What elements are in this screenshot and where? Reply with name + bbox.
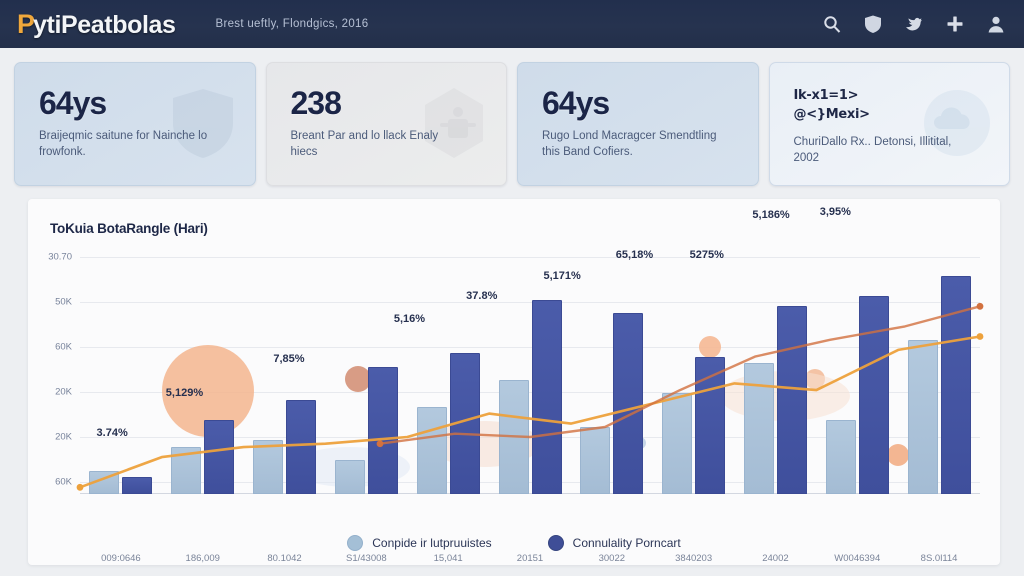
y-axis-tick-label: 60K — [28, 342, 72, 353]
kpi-value: 64ys — [39, 87, 237, 119]
chart-data-label: 5,129% — [166, 387, 203, 399]
search-icon[interactable] — [822, 14, 842, 34]
x-axis-tick-label: W0046394 — [834, 553, 880, 564]
kpi-card-1[interactable]: 64ys Braijeqmic saitune for Nainche lo f… — [14, 62, 256, 186]
y-axis-tick-label: 30.70 — [28, 252, 72, 263]
x-axis-tick-label: 20151 — [517, 553, 543, 564]
x-axis-tick-label: 24002 — [762, 553, 788, 564]
kpi-code-line-1: Ik-x1=1> — [794, 87, 992, 106]
chart-data-label: 3.74% — [97, 427, 128, 439]
legend-label: Connulality Porncart — [573, 536, 681, 550]
chart-legend: Conpide ir lutpruuistes Connulality Porn… — [28, 535, 1000, 551]
kpi-description: Braijeqmic saitune for Nainche lo frowfo… — [39, 128, 214, 161]
kpi-value: 238 — [291, 87, 489, 119]
chart-line — [80, 337, 980, 488]
chart-plot-area[interactable]: 30.7050K60K20K20K60K009:0646186,00980.10… — [80, 251, 980, 494]
chart-data-label: 5,16% — [394, 313, 425, 325]
chart-title: ToKuia BotaRangle (Hari) — [50, 221, 208, 236]
chart-line-overlay — [80, 251, 980, 494]
x-axis-tick-label: 8S.0l114 — [921, 553, 958, 564]
kpi-card-3[interactable]: 64ys Rugo Lond Macragcer Smendtling this… — [517, 62, 759, 186]
chart-data-label: 65,18% — [616, 249, 653, 261]
chart-data-label: 5,186% — [752, 209, 789, 221]
legend-swatch-icon — [347, 535, 363, 551]
chart-line-marker[interactable] — [977, 333, 984, 340]
brand-text: ytiPeatbolas — [33, 11, 175, 40]
chart-data-label: 7,85% — [273, 353, 304, 365]
kpi-description: Rugo Lond Macragcer Smendtling this Band… — [542, 128, 717, 161]
x-axis-tick-label: 3840203 — [675, 553, 712, 564]
chart-panel: ToKuia BotaRangle (Hari) 30.7050K60K20K2… — [28, 199, 1000, 565]
chart-line — [380, 306, 980, 443]
legend-swatch-icon — [548, 535, 564, 551]
y-axis-tick-label: 20K — [28, 432, 72, 443]
user-icon[interactable] — [986, 14, 1006, 34]
legend-label: Conpide ir lutpruuistes — [372, 536, 491, 550]
y-axis-tick-label: 60K — [28, 477, 72, 488]
chart-line-marker[interactable] — [77, 484, 84, 491]
x-axis-tick-label: 15,041 — [434, 553, 463, 564]
kpi-card-2[interactable]: 238 Breant Par and lo llack Enaly hiecs — [266, 62, 508, 186]
plus-icon[interactable] — [945, 14, 965, 34]
x-axis-tick-label: S1/43008 — [346, 553, 387, 564]
kpi-card-row: 64ys Braijeqmic saitune for Nainche lo f… — [14, 62, 1010, 186]
x-axis-tick-label: 30022 — [599, 553, 625, 564]
chart-line-marker[interactable] — [977, 303, 984, 310]
chart-line-marker[interactable] — [377, 440, 384, 447]
kpi-description: Breant Par and lo llack Enaly hiecs — [291, 128, 466, 161]
chart-data-label: 3,95% — [820, 206, 851, 218]
x-axis-tick-label: 009:0646 — [101, 553, 141, 564]
chart-data-label: 5275% — [690, 249, 724, 261]
kpi-code-line-2: @<}Mexi> — [794, 106, 992, 125]
bird-icon[interactable] — [904, 14, 924, 34]
dashboard-root: P ytiPeatbolas Brest ueftly, Flondgics, … — [0, 0, 1024, 576]
app-logo[interactable]: P ytiPeatbolas — [17, 9, 176, 40]
y-axis-tick-label: 50K — [28, 297, 72, 308]
brand-mark: P — [17, 9, 34, 40]
kpi-value: 64ys — [542, 87, 740, 119]
kpi-description: ChuriDallo Rx.. Detonsi, Illitital, 2002 — [794, 134, 969, 167]
header-icon-group — [822, 0, 1006, 48]
x-axis-tick-label: 186,009 — [186, 553, 220, 564]
header-subtitle: Brest ueftly, Flondgics, 2016 — [216, 18, 369, 30]
y-axis-tick-label: 20K — [28, 387, 72, 398]
shield-icon[interactable] — [863, 14, 883, 34]
kpi-card-4[interactable]: Ik-x1=1> @<}Mexi> ChuriDallo Rx.. Detons… — [769, 62, 1011, 186]
legend-item-series-1[interactable]: Conpide ir lutpruuistes — [347, 535, 491, 551]
chart-data-label: 5,171% — [543, 270, 580, 282]
chart-data-label: 37.8% — [466, 290, 497, 302]
x-axis-tick-label: 80.1042 — [267, 553, 301, 564]
legend-item-series-2[interactable]: Connulality Porncart — [548, 535, 681, 551]
app-header: P ytiPeatbolas Brest ueftly, Flondgics, … — [0, 0, 1024, 48]
